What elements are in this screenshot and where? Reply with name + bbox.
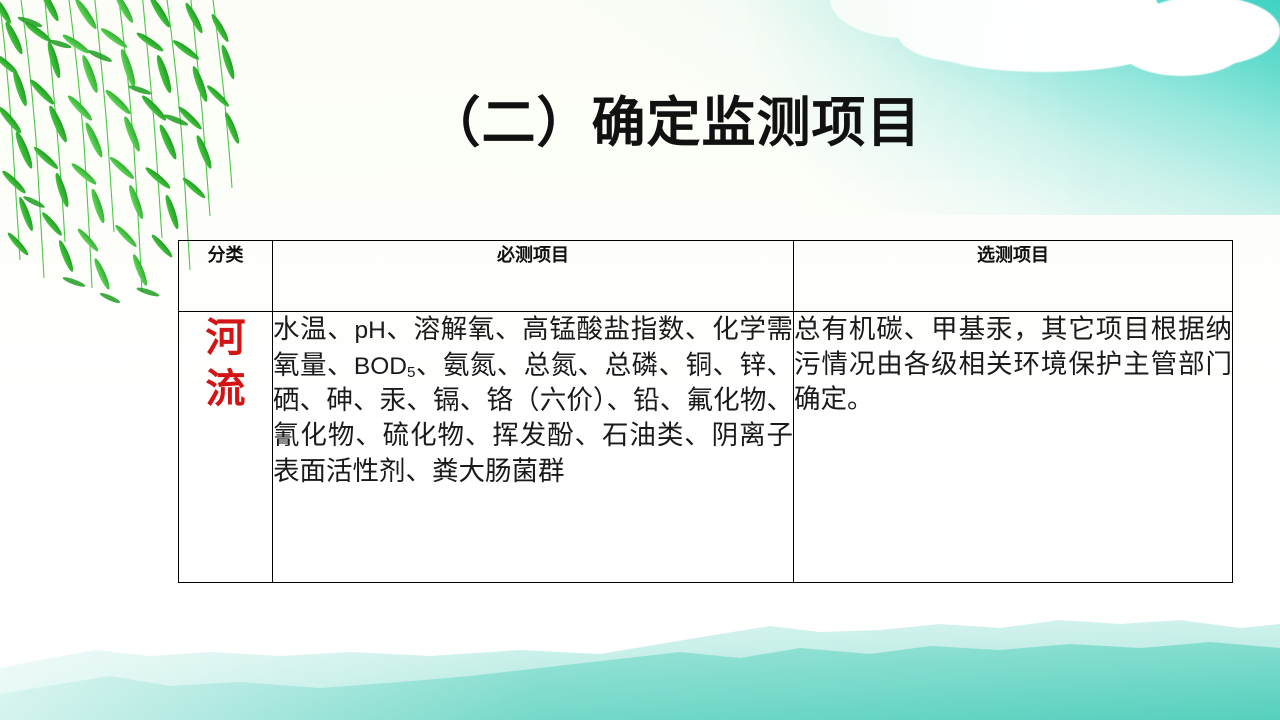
column-header-optional: 选测项目 [794, 241, 1233, 312]
cell-optional-items: 总有机碳、甲基汞，其它项目根据纳污情况由各级相关环境保护主管部门确定。 [794, 312, 1233, 583]
mandatory-text-bod: BOD5 [354, 353, 416, 380]
monitoring-items-table: 分类 必测项目 选测项目 河流 水温、pH、溶解氧、高锰酸盐指数、化学需氧量、B… [178, 240, 1233, 583]
category-label-river: 河流 [204, 312, 248, 414]
cloud-shape [1130, 0, 1280, 66]
table-header-row: 分类 必测项目 选测项目 [179, 241, 1233, 312]
column-header-category: 分类 [179, 241, 273, 312]
optional-text: 总有机碳、甲基汞，其它项目根据纳污情况由各级相关环境保护主管部门确定。 [794, 314, 1232, 414]
table-row: 河流 水温、pH、溶解氧、高锰酸盐指数、化学需氧量、BOD5、氨氮、总氮、总磷、… [179, 312, 1233, 583]
cloud-shape [944, 28, 1064, 62]
mandatory-text-ph: pH [354, 317, 385, 344]
cell-category: 河流 [179, 312, 273, 583]
bod-subscript: 5 [407, 364, 415, 381]
page-title: （二）确定监测项目 [0, 94, 1280, 153]
cell-mandatory-items: 水温、pH、溶解氧、高锰酸盐指数、化学需氧量、BOD5、氨氮、总氮、总磷、铜、锌… [273, 312, 794, 583]
mountain-silhouette [0, 590, 1280, 720]
bod-label: BOD [354, 353, 407, 380]
slide: （二）确定监测项目 分类 必测项目 选测项目 河流 [0, 0, 1280, 720]
monitoring-items-table-wrapper: 分类 必测项目 选测项目 河流 水温、pH、溶解氧、高锰酸盐指数、化学需氧量、B… [178, 240, 1232, 583]
mandatory-text-part-1: 水温、 [273, 314, 354, 344]
column-header-mandatory: 必测项目 [273, 241, 794, 312]
